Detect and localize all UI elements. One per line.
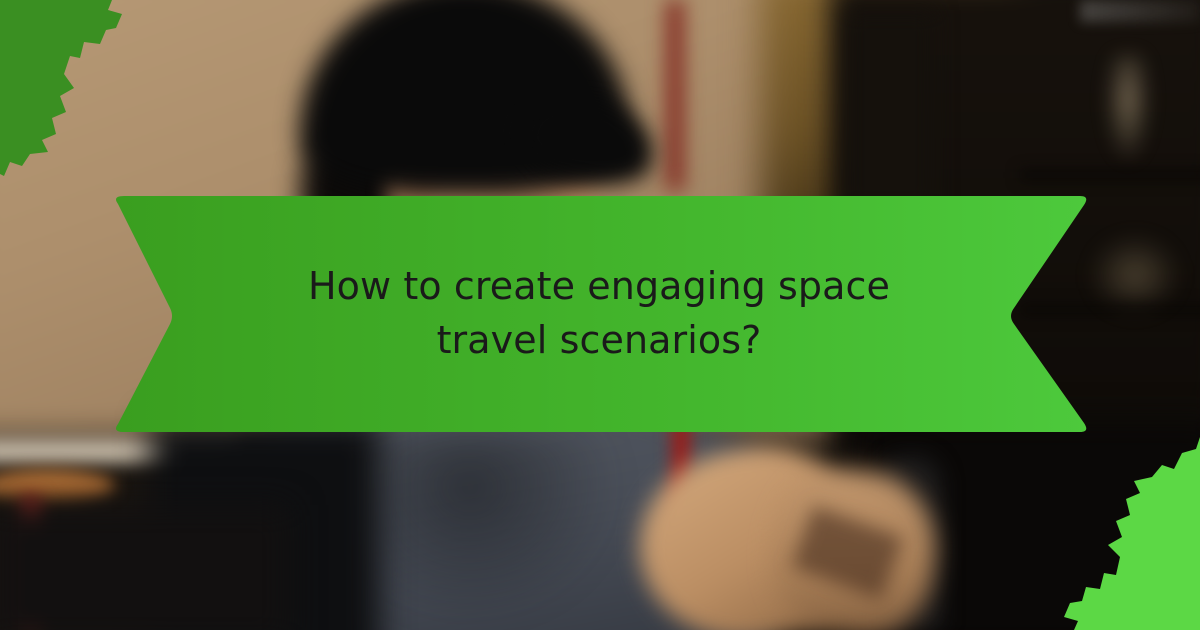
photo-floor-shadow — [0, 505, 290, 630]
thumbnail-canvas: How to create engaging space travel scen… — [0, 0, 1200, 630]
photo-speaker-box — [845, 10, 935, 210]
photo-red-stripe-upper — [668, 0, 682, 190]
banner-text-container: How to create engaging space travel scen… — [108, 196, 1090, 432]
photo-shelf-label — [1080, 0, 1200, 22]
photo-shelf-object-lower — [1090, 235, 1180, 315]
photo-stool-seat — [0, 470, 115, 502]
page-title: How to create engaging space travel scen… — [269, 260, 929, 368]
photo-shelf-object-upper — [1105, 55, 1151, 165]
title-banner: How to create engaging space travel scen… — [108, 196, 1090, 432]
photo-shelf-edge-upper — [1020, 170, 1200, 180]
photo-shirt-fold — [370, 430, 620, 620]
